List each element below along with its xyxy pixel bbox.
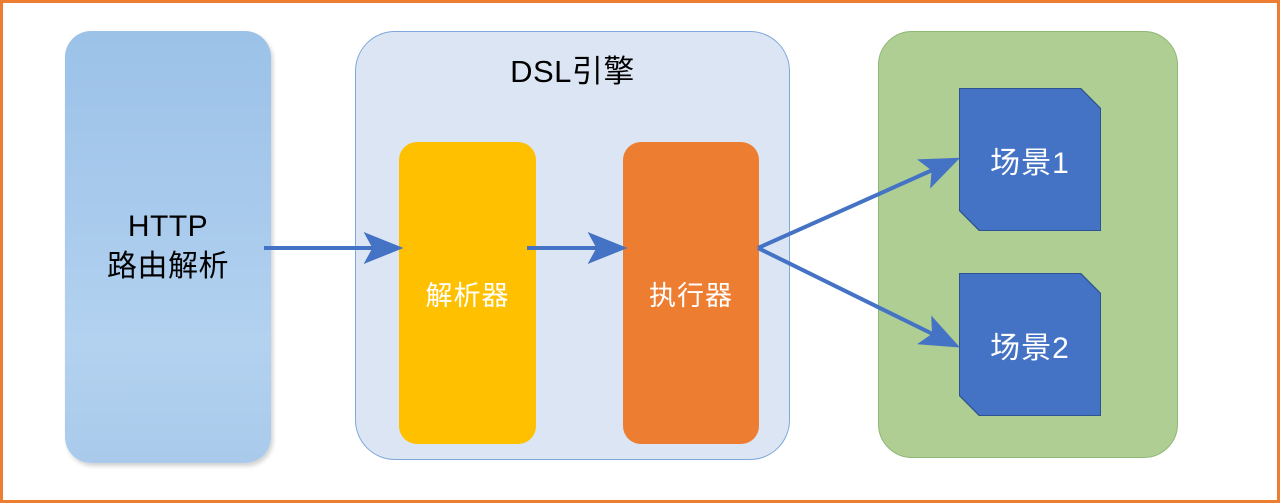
http-route-parse-label: HTTP 路由解析 [107,207,229,286]
executor-label: 执行器 [649,274,733,313]
dsl-engine-container[interactable]: DSL引擎 解析器 执行器 [355,31,790,460]
scene-2-box[interactable]: 场景2 [960,274,1100,415]
scene-1-box[interactable]: 场景1 [960,89,1100,230]
scenes-container[interactable]: 场景1 场景2 [878,31,1178,458]
scene-1-label: 场景1 [990,138,1070,182]
parser-label: 解析器 [426,274,510,313]
executor-box[interactable]: 执行器 [623,142,759,444]
parser-box[interactable]: 解析器 [399,142,536,444]
dsl-engine-title: DSL引擎 [356,46,789,91]
diagram-canvas: HTTP 路由解析 DSL引擎 解析器 执行器 场景1 场景2 [0,0,1280,503]
http-route-parse-box[interactable]: HTTP 路由解析 [65,31,271,463]
scene-2-label: 场景2 [990,323,1070,367]
